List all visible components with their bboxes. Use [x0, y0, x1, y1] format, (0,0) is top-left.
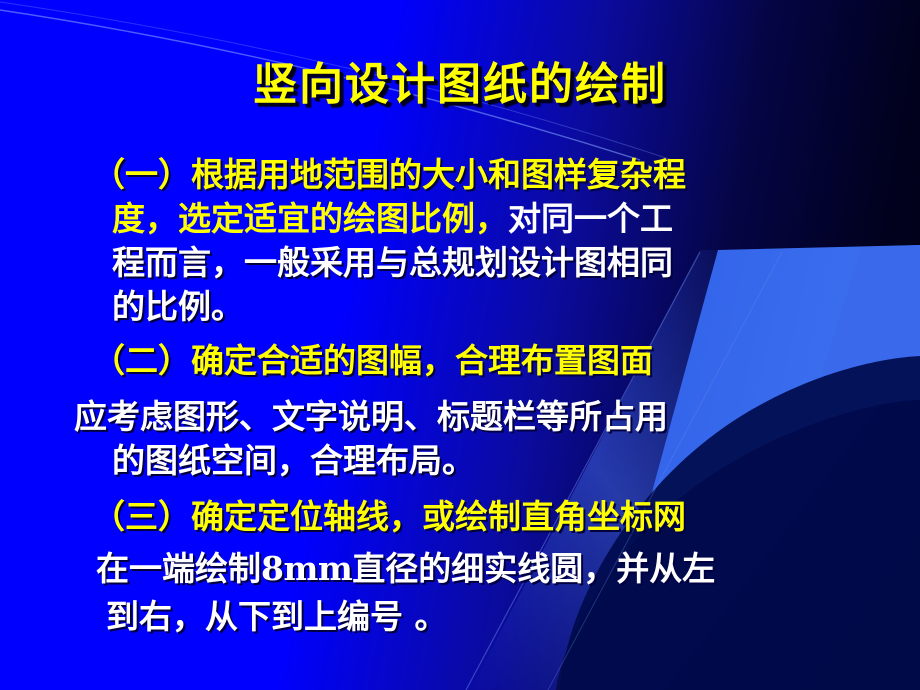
body-line-9: 在一端绘制8mm直径的细实线圆，并从左 — [96, 552, 715, 585]
body-line-2-yellow: 度，选定适宜的绘图比例， — [112, 199, 508, 238]
body-line-9-measure: 8mm — [261, 549, 352, 588]
body-line-4: 的比例。 — [112, 290, 244, 323]
body-line-2-white: 对同一个工 — [508, 199, 673, 238]
body-line-10: 到右，从下到上编号 。 — [106, 600, 448, 633]
body-line-9-part2: 直径的细实线圆，并从左 — [352, 549, 715, 588]
body-line-9-part1: 在一端绘制 — [96, 549, 261, 588]
presentation-slide: 竖向设计图纸的绘制 （一）根据用地范围的大小和图样复杂程 度，选定适宜的绘图比例… — [0, 0, 920, 690]
body-line-5: （二）确定合适的图幅，合理布置图面 — [92, 344, 653, 377]
body-line-3: 程而言，一般采用与总规划设计图相同 — [112, 246, 673, 279]
body-line-8: （三）确定定位轴线，或绘制直角坐标网 — [92, 500, 686, 533]
body-line-1: （一）根据用地范围的大小和图样复杂程 — [92, 158, 686, 191]
body-line-6: 应考虑图形、文字说明、标题栏等所占用 — [74, 400, 668, 433]
body-line-2: 度，选定适宜的绘图比例，对同一个工 — [112, 202, 673, 235]
body-line-7: 的图纸空间，合理布局。 — [112, 444, 475, 477]
slide-body: （一）根据用地范围的大小和图样复杂程 度，选定适宜的绘图比例，对同一个工 程而言… — [0, 152, 920, 672]
slide-title: 竖向设计图纸的绘制 — [0, 48, 920, 112]
